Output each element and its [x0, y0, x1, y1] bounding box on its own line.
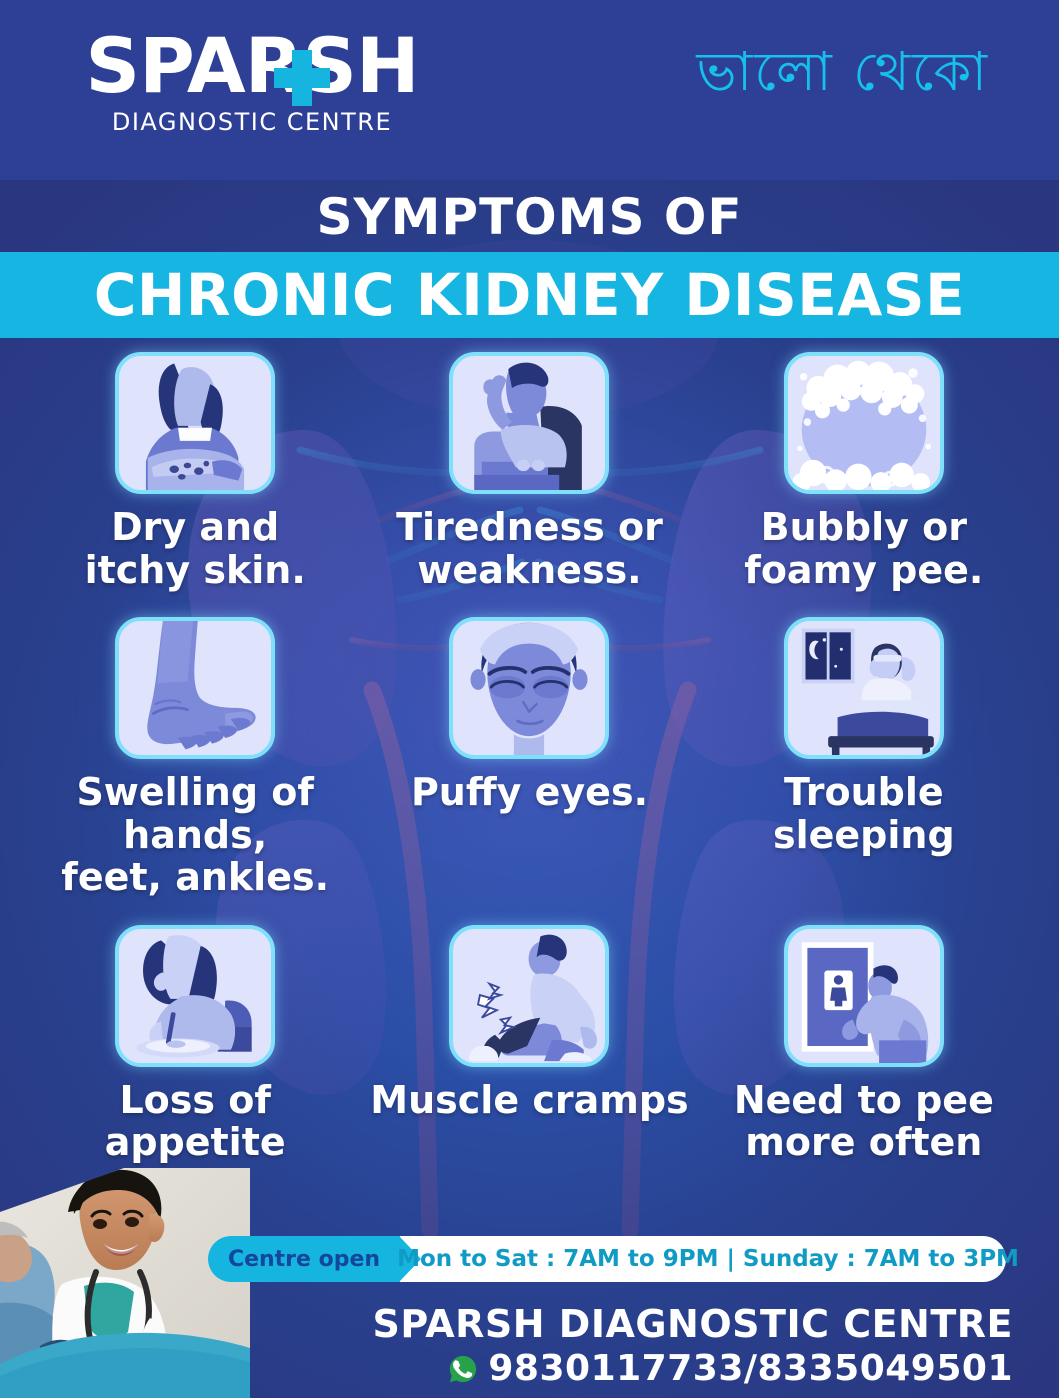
symptom-cell: Muscle cramps	[362, 925, 696, 1164]
logo-wordmark: SPARSH	[62, 28, 442, 104]
doctor-with-patient-photo	[0, 1168, 250, 1398]
symptom-cell: Tiredness or weakness.	[362, 352, 696, 591]
symptom-label: Need to pee more often	[734, 1079, 994, 1164]
page-title-line2: CHRONIC KIDNEY DISEASE	[94, 261, 965, 329]
symptom-grid: Dry and itchy skin.	[0, 352, 1059, 1164]
symptom-cell: Bubbly or foamy pee.	[697, 352, 1031, 591]
restroom-door-icon	[784, 925, 944, 1067]
symptom-cell: Trouble sleeping	[697, 617, 1031, 899]
phone-number: 9830117733/8335049501	[488, 1348, 1013, 1389]
whatsapp-icon	[448, 1354, 478, 1384]
symptom-label: Bubbly or foamy pee.	[744, 506, 983, 591]
symptom-cell: Puffy eyes.	[362, 617, 696, 899]
brand-logo: SPARSH DIAGNOSTIC CENTRE	[62, 28, 442, 136]
symptom-cell: Dry and itchy skin.	[28, 352, 362, 591]
no-appetite-icon	[115, 925, 275, 1067]
title-highlight-band: CHRONIC KIDNEY DISEASE	[0, 252, 1059, 338]
tired-man-icon	[449, 352, 609, 494]
logo-subtitle: DIAGNOSTIC CENTRE	[62, 108, 442, 136]
symptom-label: Puffy eyes.	[411, 771, 648, 814]
symptom-label: Loss of appetite	[28, 1079, 362, 1164]
muscle-cramp-icon	[449, 925, 609, 1067]
infographic-poster: SPARSH DIAGNOSTIC CENTRE ভালো থেকো SYMPT…	[0, 0, 1059, 1398]
puffy-eyes-icon	[449, 617, 609, 759]
symptom-label: Swelling of hands, feet, ankles.	[28, 771, 362, 899]
symptom-label: Tiredness or weakness.	[396, 506, 663, 591]
opening-hours-text: Mon to Sat : 7AM to 9PM | Sunday : 7AM t…	[430, 1236, 986, 1282]
centre-open-label: Centre open	[228, 1247, 380, 1272]
bengali-tagline: ভালো থেকো	[696, 30, 989, 120]
insomnia-bed-icon	[784, 617, 944, 759]
medical-cross-icon	[274, 50, 330, 106]
symptom-label: Muscle cramps	[370, 1079, 688, 1122]
foamy-urine-icon	[784, 352, 944, 494]
symptom-label: Trouble sleeping	[697, 771, 1031, 856]
symptom-cell: Need to pee more often	[697, 925, 1031, 1164]
swollen-foot-icon	[115, 617, 275, 759]
header-bar: SPARSH DIAGNOSTIC CENTRE ভালো থেকো	[0, 0, 1059, 180]
centre-open-badge: Centre open	[208, 1236, 400, 1282]
footer-centre-name: SPARSH DIAGNOSTIC CENTRE	[372, 1302, 1013, 1346]
opening-hours-bar: Centre open Mon to Sat : 7AM to 9PM | Su…	[208, 1236, 1006, 1282]
itchy-skin-icon	[115, 352, 275, 494]
symptom-cell: Swelling of hands, feet, ankles.	[28, 617, 362, 899]
symptom-cell: Loss of appetite	[28, 925, 362, 1164]
symptom-label: Dry and itchy skin.	[85, 506, 306, 591]
page-title-line1: SYMPTOMS OF	[0, 188, 1059, 246]
contact-phone-row[interactable]: 9830117733/8335049501	[448, 1348, 1013, 1389]
